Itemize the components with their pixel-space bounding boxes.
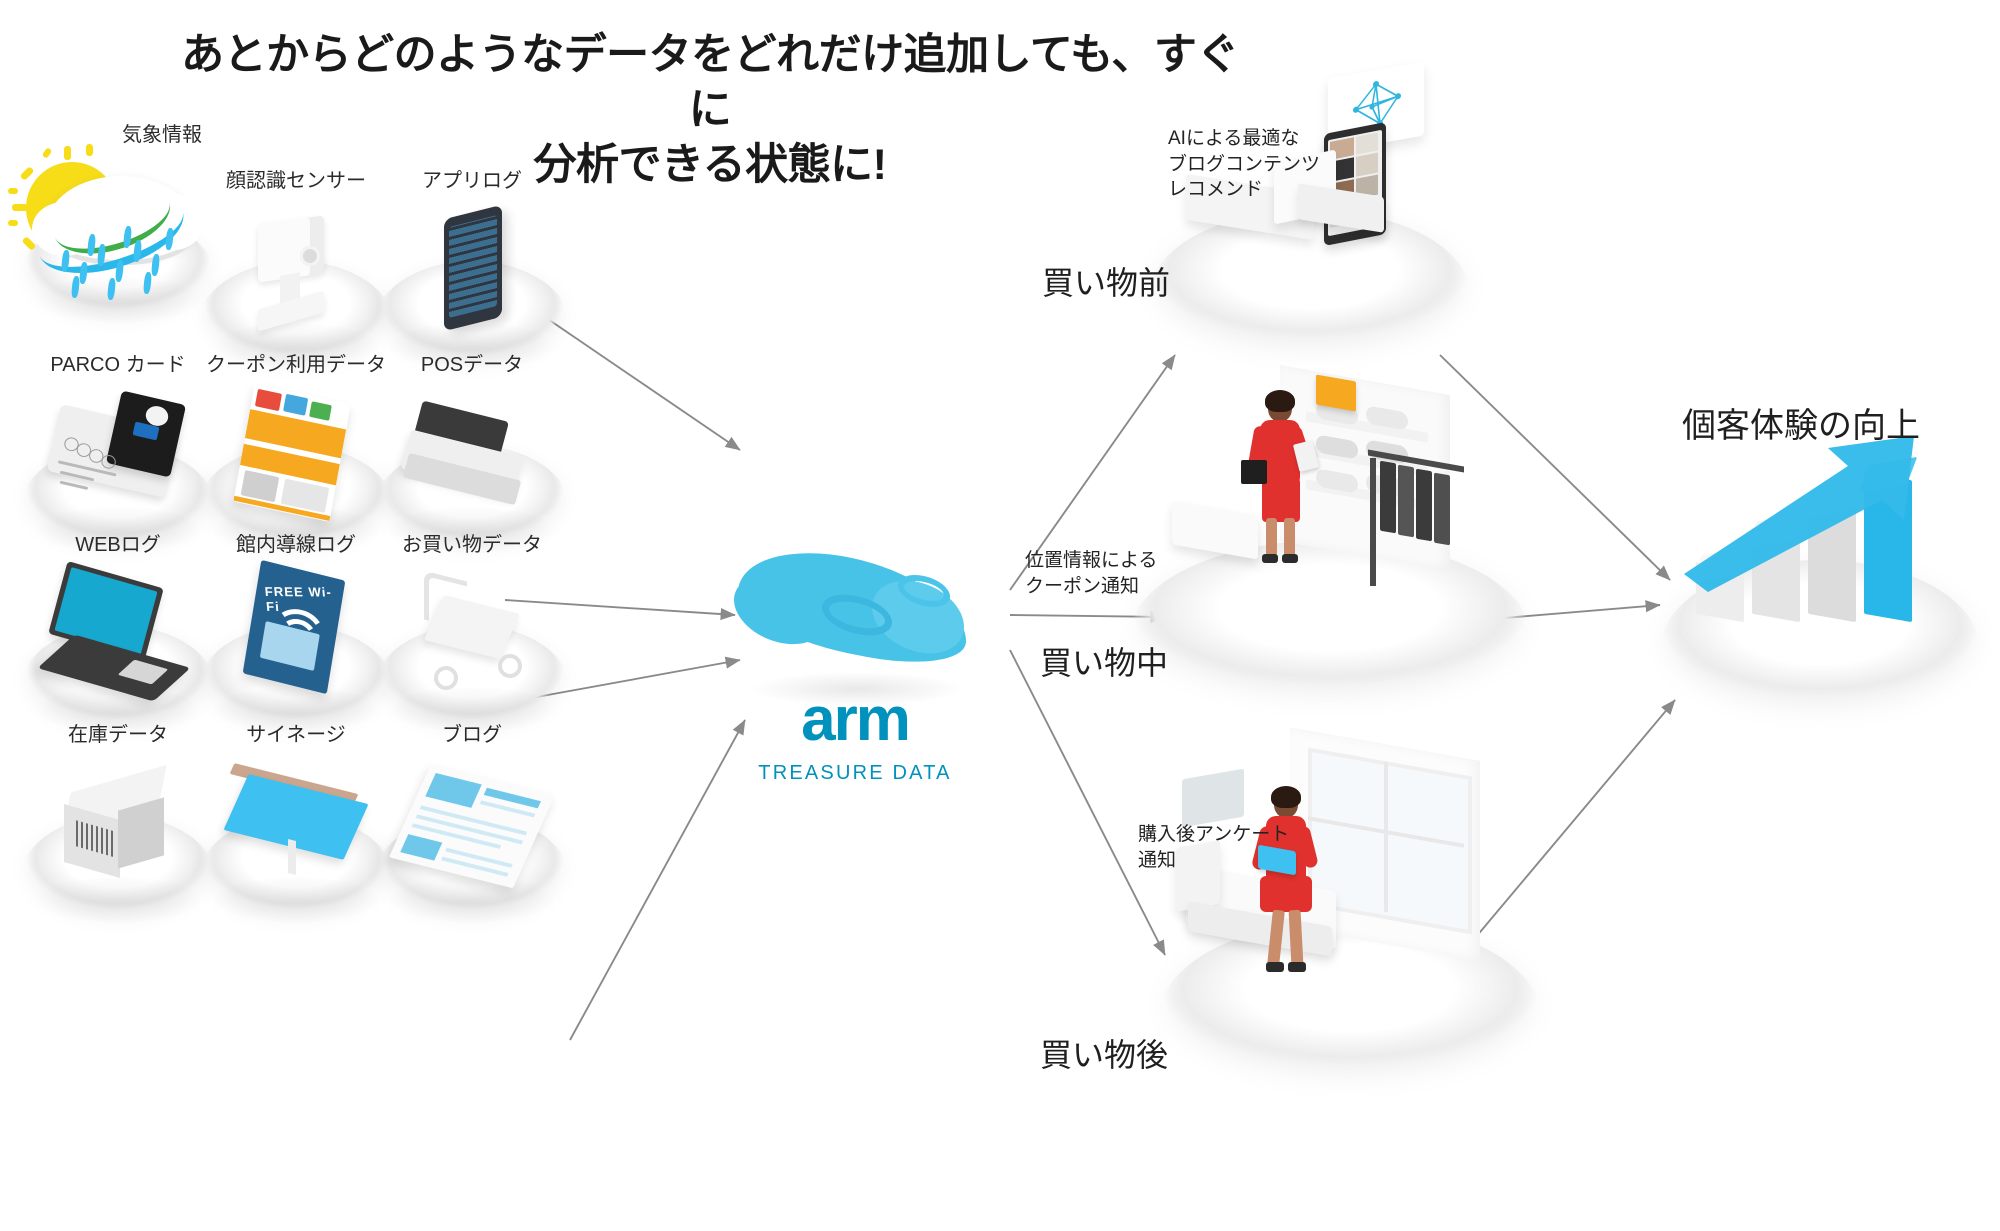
source-tile-signage[interactable]: サイネージ [196, 718, 396, 933]
coupon-icon [196, 374, 396, 524]
stage-during-label: 買い物中 [1040, 638, 1168, 684]
arm-logo: arm [730, 692, 980, 748]
source-label: ブログ [372, 718, 572, 747]
weather-icon [18, 144, 218, 294]
treasure-data-platform[interactable]: arm TREASURE DATA [730, 540, 980, 770]
laptop-icon [18, 554, 218, 704]
source-label: 気象情報 [122, 118, 322, 147]
free-wifi-sign-icon: FREE Wi-Fi [196, 554, 396, 704]
source-label: サイネージ [196, 718, 396, 747]
stage-before-note: AIによる最適な ブログコンテンツ レコメンド [1168, 126, 1388, 203]
stage-before-label: 買い物前 [1042, 258, 1170, 304]
face-recognition-camera-icon [196, 190, 396, 340]
rack-pole [1370, 458, 1376, 586]
seated-avatar [1234, 786, 1344, 986]
handbag [1241, 460, 1267, 484]
source-tile-app-log[interactable]: アプリログ [372, 164, 572, 379]
blog-page-icon [372, 744, 572, 894]
source-tile-weather[interactable]: 気象情報 [18, 118, 218, 333]
inventory-box-icon [18, 744, 218, 894]
source-label: お買い物データ [372, 528, 572, 557]
source-label: POSデータ [372, 348, 572, 377]
source-tile-face-sensor[interactable]: 顔認識センサー [196, 164, 396, 379]
journey-stage-before[interactable] [1150, 70, 1470, 360]
infographic-canvas: あとからどのようなデータをどれだけ追加しても、すぐに 分析できる状態に! 気象情… [0, 0, 2000, 1231]
stage-after-note: 購入後アンケート 通知 [1138, 822, 1358, 873]
pos-register-icon [372, 374, 572, 524]
growth-arrow-icon [1678, 424, 1958, 594]
source-label: WEBログ [18, 528, 218, 557]
source-label: 館内導線ログ [196, 528, 396, 557]
garment [1398, 465, 1414, 538]
smartphone-icon [372, 190, 572, 340]
source-tile-blog[interactable]: ブログ [372, 718, 572, 933]
source-label: アプリログ [372, 164, 572, 193]
source-tile-indoor-flow-log[interactable]: 館内導線ログ FREE Wi-Fi [196, 528, 396, 743]
stage-after-label: 買い物後 [1040, 1030, 1168, 1076]
treasure-data-wordmark: TREASURE DATA [730, 762, 980, 785]
shopping-cart-icon [372, 554, 572, 704]
garment [1380, 461, 1396, 534]
digital-signage-icon [196, 744, 396, 894]
outcome-scene[interactable] [1660, 440, 1980, 720]
window-mullion [1384, 762, 1388, 913]
source-tile-purchase-data[interactable]: お買い物データ [372, 528, 572, 743]
source-tile-web-log[interactable]: WEBログ [18, 528, 218, 743]
stage-during-note: 位置情報による クーポン通知 [1025, 548, 1225, 599]
credit-card-icon [18, 374, 218, 524]
source-tile-inventory-data[interactable]: 在庫データ [18, 718, 218, 933]
source-label: 在庫データ [18, 718, 218, 747]
shopper-avatar [1234, 386, 1326, 568]
stage-platform [1160, 920, 1540, 1090]
source-label: PARCO カード [18, 348, 218, 377]
source-label: クーポン利用データ [196, 348, 396, 377]
source-label: 顔認識センサー [196, 164, 396, 193]
garment [1434, 473, 1450, 546]
garment [1416, 469, 1432, 542]
outcome-label: 個客体験の向上 [1682, 398, 1920, 447]
